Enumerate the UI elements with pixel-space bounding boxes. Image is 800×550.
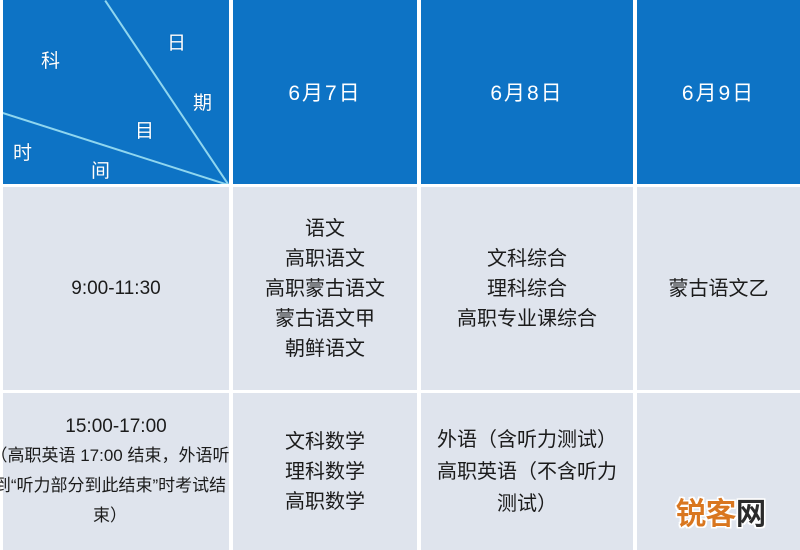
row-afternoon-june-7-cell: 文科数学 理科数学 高职数学 bbox=[233, 393, 417, 550]
subject-item: 文科数学 bbox=[285, 427, 365, 457]
watermark-text-orange: 锐客 bbox=[676, 498, 736, 531]
header-corner-cell: 科 目 日 期 时 间 bbox=[3, 0, 229, 184]
watermark: 锐客网 bbox=[676, 497, 766, 533]
row-afternoon-time-cell: 15:00-17:00 （高职英语 17:00 结束，外语听到“听力部分到此结束… bbox=[3, 393, 229, 550]
watermark-text-dark: 网 bbox=[736, 498, 766, 531]
header-label-time-char2: 间 bbox=[91, 156, 112, 183]
table-header-row: 科 目 日 期 时 间 6月7日 6月8日 6月9日 bbox=[3, 0, 800, 184]
subject-item: 朝鲜语文 bbox=[285, 334, 365, 364]
time-note-label: （高职英语 17:00 结束，外语听到“听力部分到此结束”时考试结束） bbox=[0, 441, 235, 531]
diagonal-line-shallow bbox=[3, 112, 229, 184]
subject-item: 高职数学 bbox=[285, 487, 365, 517]
header-date-june-8: 6月8日 bbox=[421, 0, 633, 184]
subject-item: 文科综合 bbox=[487, 244, 567, 274]
exam-schedule-table: 科 目 日 期 时 间 6月7日 6月8日 6月9日 9:00-11:30 语文… bbox=[3, 0, 800, 550]
subject-item: 高职专业课综合 bbox=[457, 304, 597, 334]
header-label-time-char1: 时 bbox=[13, 138, 34, 165]
time-label: 9:00-11:30 bbox=[71, 275, 160, 303]
subject-item: 外语（含听力测试） bbox=[430, 424, 625, 456]
header-label-subject-char2: 目 bbox=[135, 116, 156, 143]
row-morning-june-7-cell: 语文 高职语文 高职蒙古语文 蒙古语文甲 朝鲜语文 bbox=[233, 187, 417, 390]
time-label: 15:00-17:00 bbox=[65, 413, 166, 441]
subject-item: 理科综合 bbox=[487, 274, 567, 304]
subject-item: 语文 bbox=[305, 214, 345, 244]
row-morning-time-cell: 9:00-11:30 bbox=[3, 187, 229, 390]
row-morning-june-9-cell: 蒙古语文乙 bbox=[637, 187, 800, 390]
subject-item: 高职英语（不含听力测试） bbox=[430, 456, 625, 520]
subject-item: 高职语文 bbox=[285, 244, 365, 274]
subject-item: 理科数学 bbox=[285, 457, 365, 487]
header-date-june-7: 6月7日 bbox=[233, 0, 417, 184]
header-label-date-char2: 期 bbox=[193, 88, 214, 115]
row-morning-june-8-cell: 文科综合 理科综合 高职专业课综合 bbox=[421, 187, 633, 390]
subject-item: 蒙古语文甲 bbox=[275, 304, 375, 334]
subject-item: 蒙古语文乙 bbox=[669, 274, 769, 304]
header-label-date-char1: 日 bbox=[167, 28, 188, 55]
table-row: 9:00-11:30 语文 高职语文 高职蒙古语文 蒙古语文甲 朝鲜语文 文科综… bbox=[3, 187, 800, 390]
subject-item: 高职蒙古语文 bbox=[265, 274, 385, 304]
header-date-june-9: 6月9日 bbox=[637, 0, 800, 184]
header-label-subject-char1: 科 bbox=[41, 46, 62, 73]
screenshot-root: 科 目 日 期 时 间 6月7日 6月8日 6月9日 9:00-11:30 语文… bbox=[0, 0, 800, 550]
row-afternoon-june-8-cell: 外语（含听力测试） 高职英语（不含听力测试） bbox=[421, 393, 633, 550]
